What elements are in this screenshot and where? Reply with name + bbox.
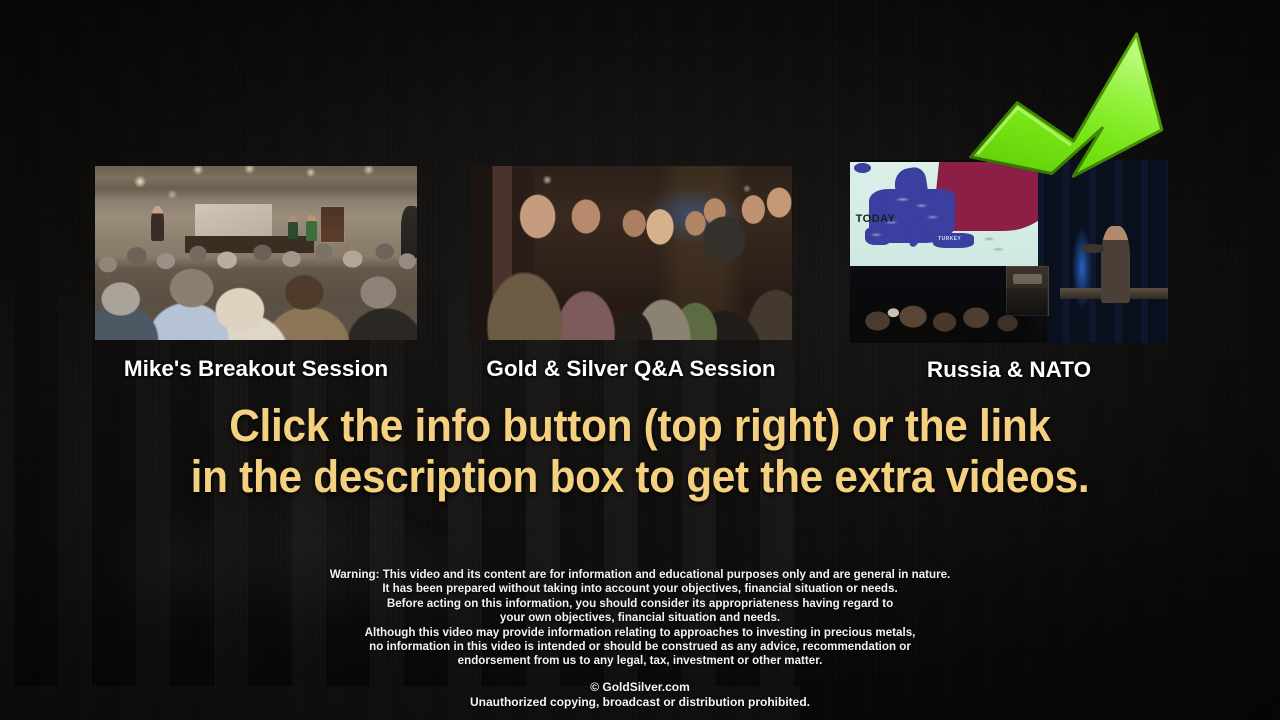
stage-audience-silhouettes — [850, 288, 1047, 343]
video-thumbnail-mikes-breakout-session[interactable] — [95, 166, 417, 340]
disclaimer-line: endorsement from us to any legal, tax, i… — [0, 654, 1280, 668]
stage-presenter-arm — [1082, 244, 1104, 253]
thumbnail-caption-gold-silver-qa-session: Gold & Silver Q&A Session — [470, 356, 792, 382]
thumbnail-caption-russia-and-nato: Russia & NATO — [850, 357, 1168, 383]
map-turkey-label: TURKEY — [938, 236, 961, 242]
stage-presenter-figure — [1101, 226, 1130, 303]
headline-line-2: in the description box to get the extra … — [38, 451, 1241, 502]
headline-call-to-action: Click the info button (top right) or the… — [38, 400, 1241, 502]
video-thumbnail-gold-silver-qa-session[interactable] — [470, 166, 792, 340]
disclaimer-line: Although this video may provide informat… — [0, 626, 1280, 640]
disclaimer-line: Warning: This video and its content are … — [0, 568, 1280, 582]
headline-line-1: Click the info button (top right) or the… — [38, 400, 1241, 451]
disclaimer-line: no information in this video is intended… — [0, 640, 1280, 654]
group-of-attendees — [470, 166, 792, 340]
copyright-line-2: Unauthorized copying, broadcast or distr… — [0, 695, 1280, 710]
stage-blue-light — [1069, 215, 1095, 321]
disclaimer-line: Before acting on this information, you s… — [0, 597, 1280, 611]
video-thumbnail-russia-and-nato[interactable]: TODAY TURKEY — [850, 160, 1168, 343]
legal-disclaimer: Warning: This video and its content are … — [0, 568, 1280, 669]
disclaimer-line: your own objectives, financial situation… — [0, 611, 1280, 625]
presentation-slide-europe-map: TODAY TURKEY — [850, 162, 1038, 266]
disclaimer-line: It has been prepared without taking into… — [0, 582, 1280, 596]
thumbnail-caption-mikes-breakout-session: Mike's Breakout Session — [95, 356, 417, 382]
map-today-label: TODAY — [856, 213, 896, 225]
copyright-line-1: © GoldSilver.com — [0, 680, 1280, 695]
video-end-card: TODAY TURKEY Mike's Breakout Session Gol… — [0, 0, 1280, 720]
seated-audience — [95, 232, 417, 340]
copyright-notice: © GoldSilver.com Unauthorized copying, b… — [0, 680, 1280, 710]
podium-logo — [1013, 274, 1041, 284]
